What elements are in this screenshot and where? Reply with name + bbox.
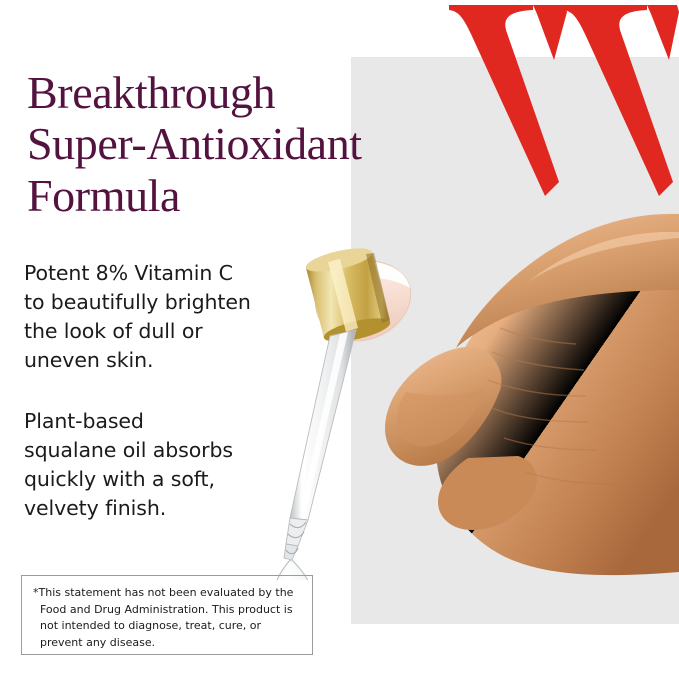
hand [385,214,679,575]
headline-line-1: Breakthrough [27,67,467,119]
gold-dropper-cap [304,244,392,347]
fda-disclaimer-box: *This statement has not been evaluated b… [21,575,313,655]
glass-pipette [284,330,356,560]
disclaimer-line: Food and Drug Administration. This produ… [33,602,301,619]
disclaimer-line: prevent any disease. [33,635,301,652]
disclaimer-line: *This statement has not been evaluated b… [33,585,301,602]
product-photo [200,140,679,580]
disclaimer-line: not intended to diagnose, treat, cure, o… [33,618,301,635]
product-infographic: Breakthrough Super-Antioxidant Formula P… [0,0,679,679]
